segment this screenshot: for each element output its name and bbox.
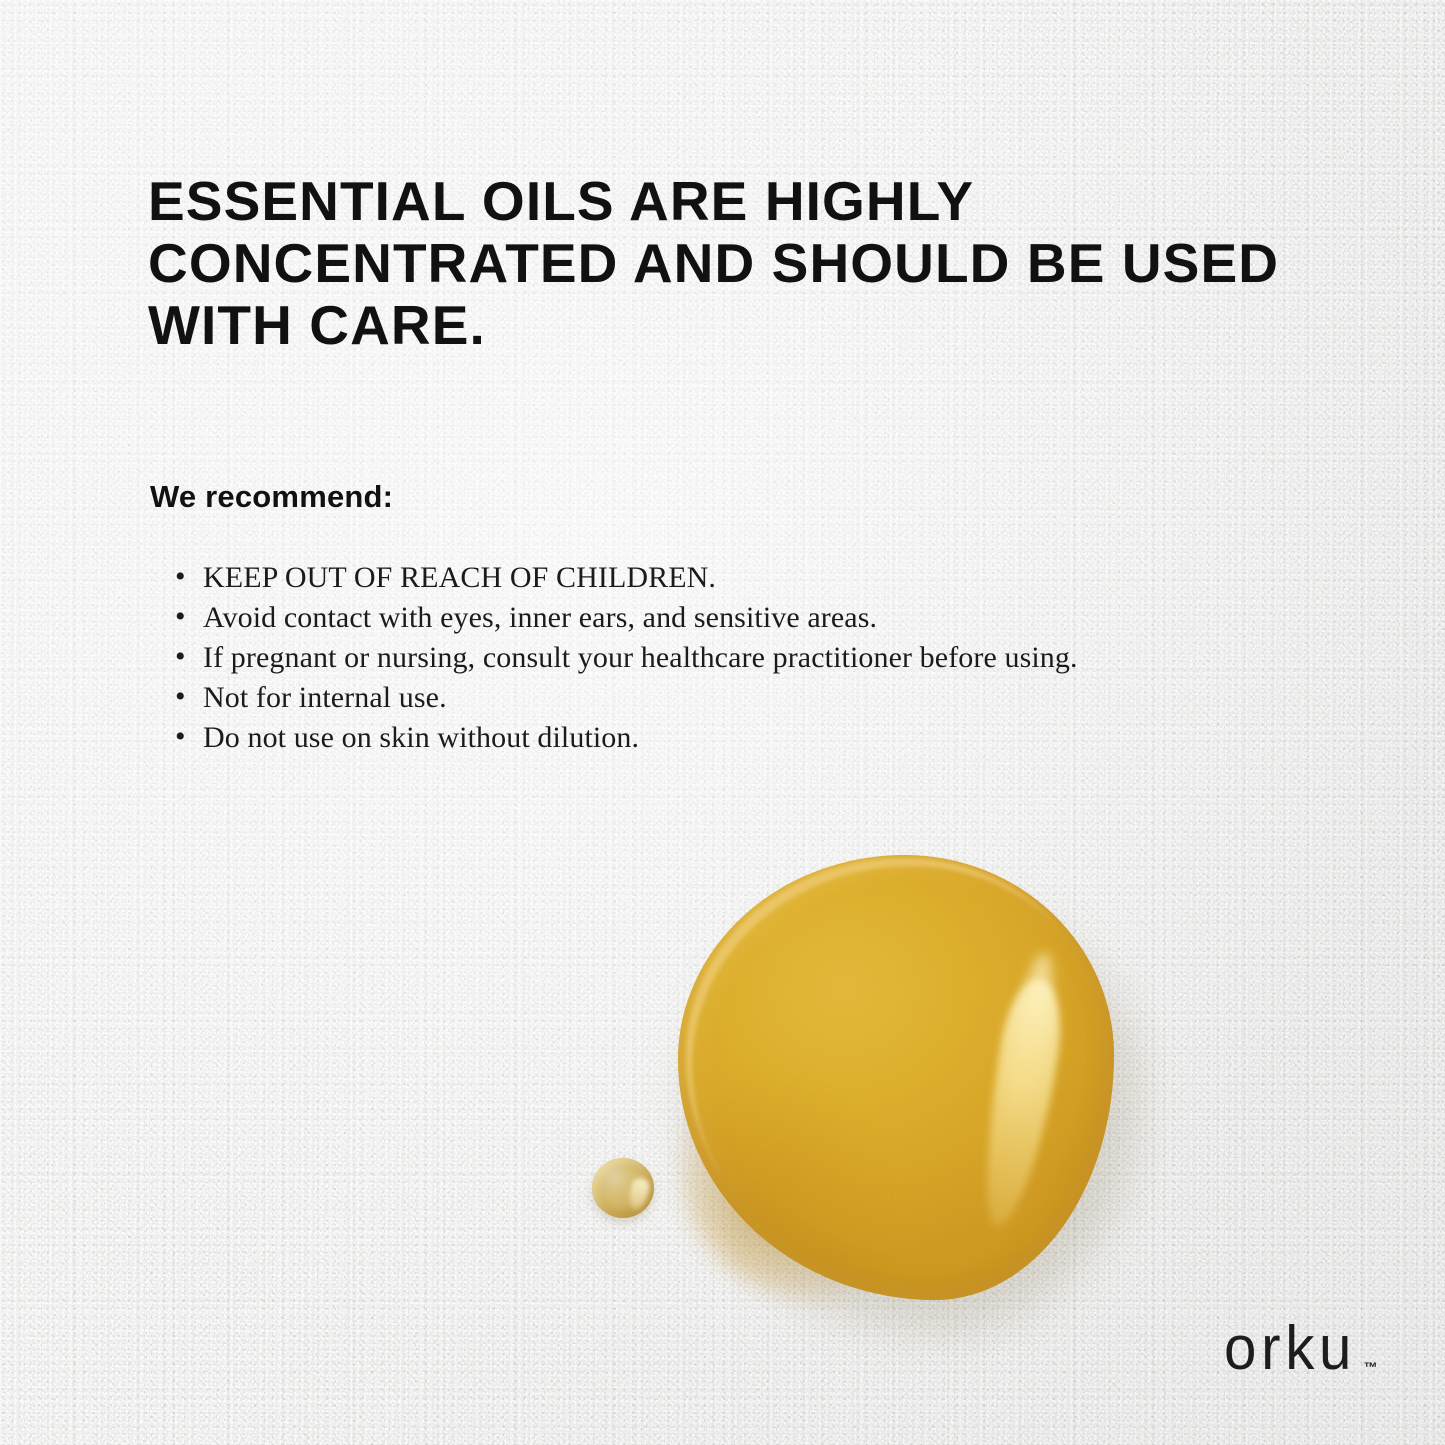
list-item: Do not use on skin without dilution.	[175, 718, 1375, 758]
recommendations-list: KEEP OUT OF REACH OF CHILDREN. Avoid con…	[175, 558, 1375, 758]
list-item-text: Avoid contact with eyes, inner ears, and…	[203, 601, 877, 634]
list-item-text: KEEP OUT OF REACH OF CHILDREN.	[203, 561, 716, 594]
poster-content: ESSENTIAL OILS ARE HIGHLY CONCENTRATED A…	[0, 0, 1445, 1445]
list-item: Not for internal use.	[175, 678, 1375, 718]
page-title: ESSENTIAL OILS ARE HIGHLY CONCENTRATED A…	[148, 170, 1328, 356]
list-item-text: Do not use on skin without dilution.	[203, 721, 639, 754]
list-item: Avoid contact with eyes, inner ears, and…	[175, 598, 1375, 638]
trademark-symbol: ™	[1364, 1360, 1378, 1374]
brand-wordmark: orku	[1224, 1318, 1356, 1380]
safety-info-poster: ESSENTIAL OILS ARE HIGHLY CONCENTRATED A…	[0, 0, 1445, 1445]
list-item-text: If pregnant or nursing, consult your hea…	[203, 641, 1078, 674]
recommendations-heading: We recommend:	[150, 478, 393, 516]
list-item: If pregnant or nursing, consult your hea…	[175, 638, 1375, 678]
list-item-text: Not for internal use.	[203, 681, 447, 714]
oil-droplet-illustration	[560, 830, 1180, 1330]
list-item: KEEP OUT OF REACH OF CHILDREN.	[175, 558, 1375, 598]
brand-logo: orku ™	[1224, 1318, 1378, 1380]
